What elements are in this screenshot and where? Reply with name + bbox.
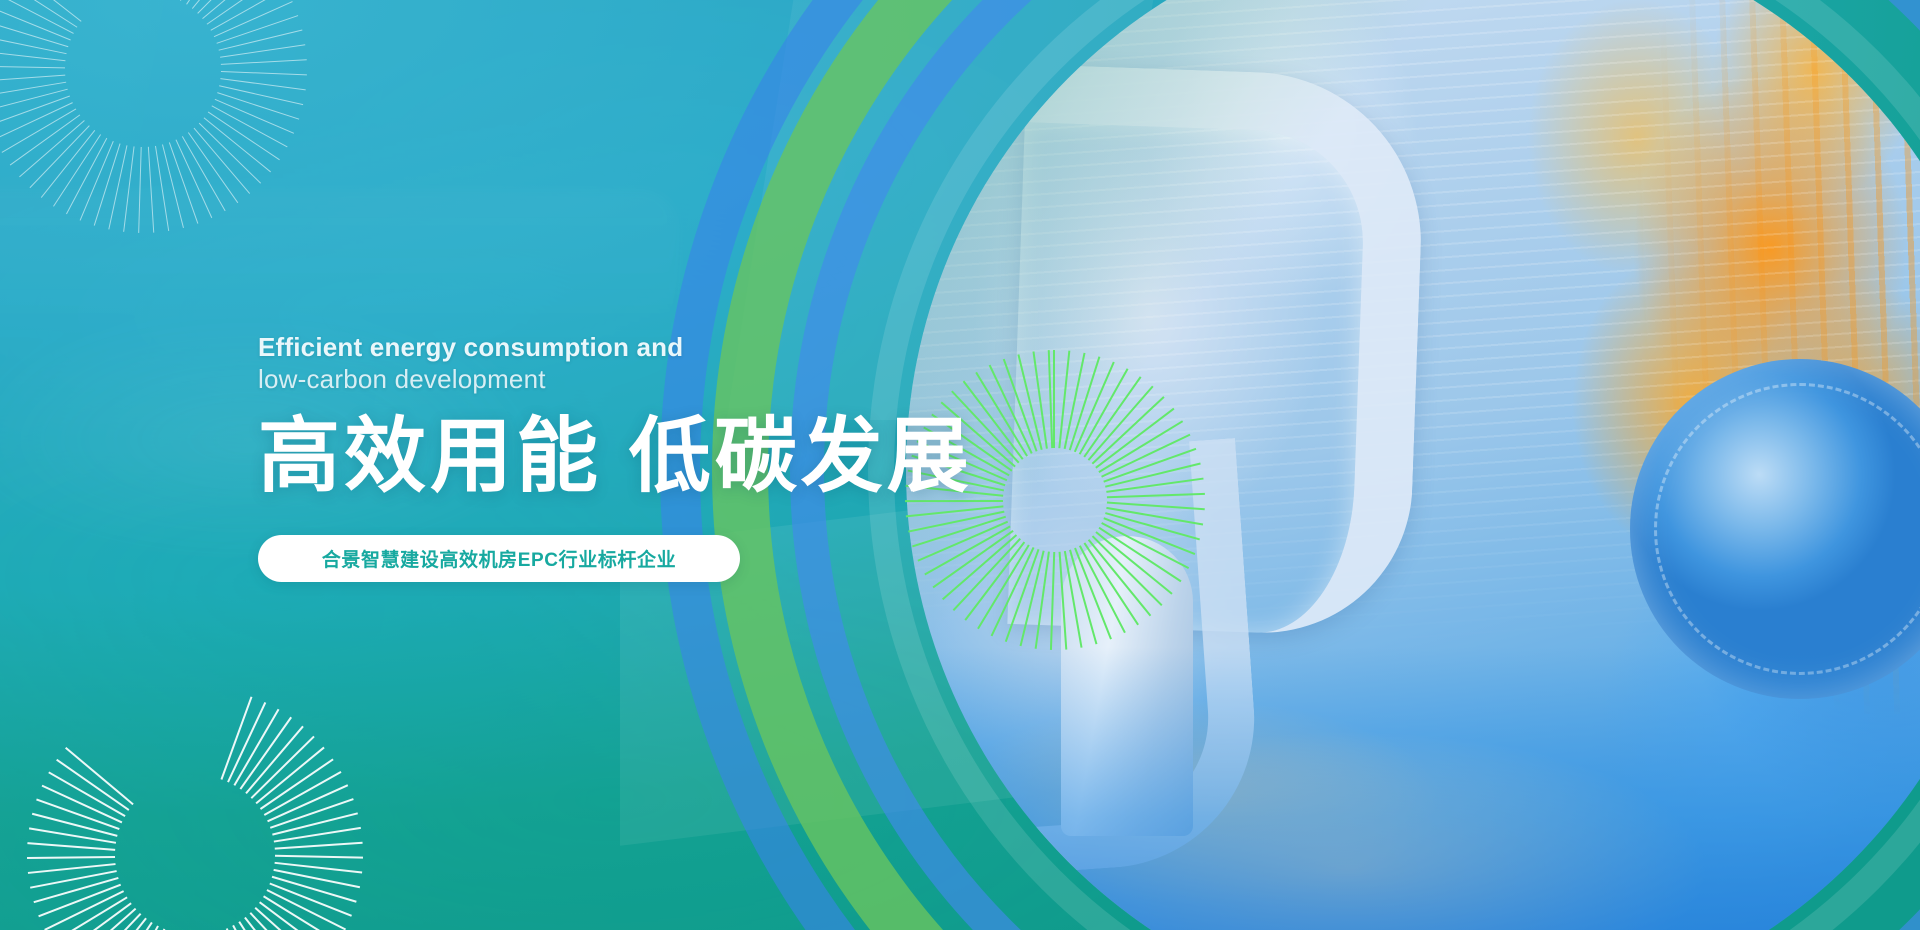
tagline-pill[interactable]: 合景智慧建设高效机房EPC行业标杆企业	[258, 535, 740, 582]
tagline-pill-label: 合景智慧建设高效机房EPC行业标杆企业	[322, 545, 676, 572]
eyebrow-line-1: Efficient energy consumption and	[258, 332, 1018, 363]
hero-banner: Efficient energy consumption and low-car…	[0, 0, 1920, 930]
hero-copy: Efficient energy consumption and low-car…	[258, 332, 1018, 582]
eyebrow-line-2: low-carbon development	[258, 363, 1018, 397]
page-title: 高效用能 低碳发展	[258, 414, 1018, 500]
